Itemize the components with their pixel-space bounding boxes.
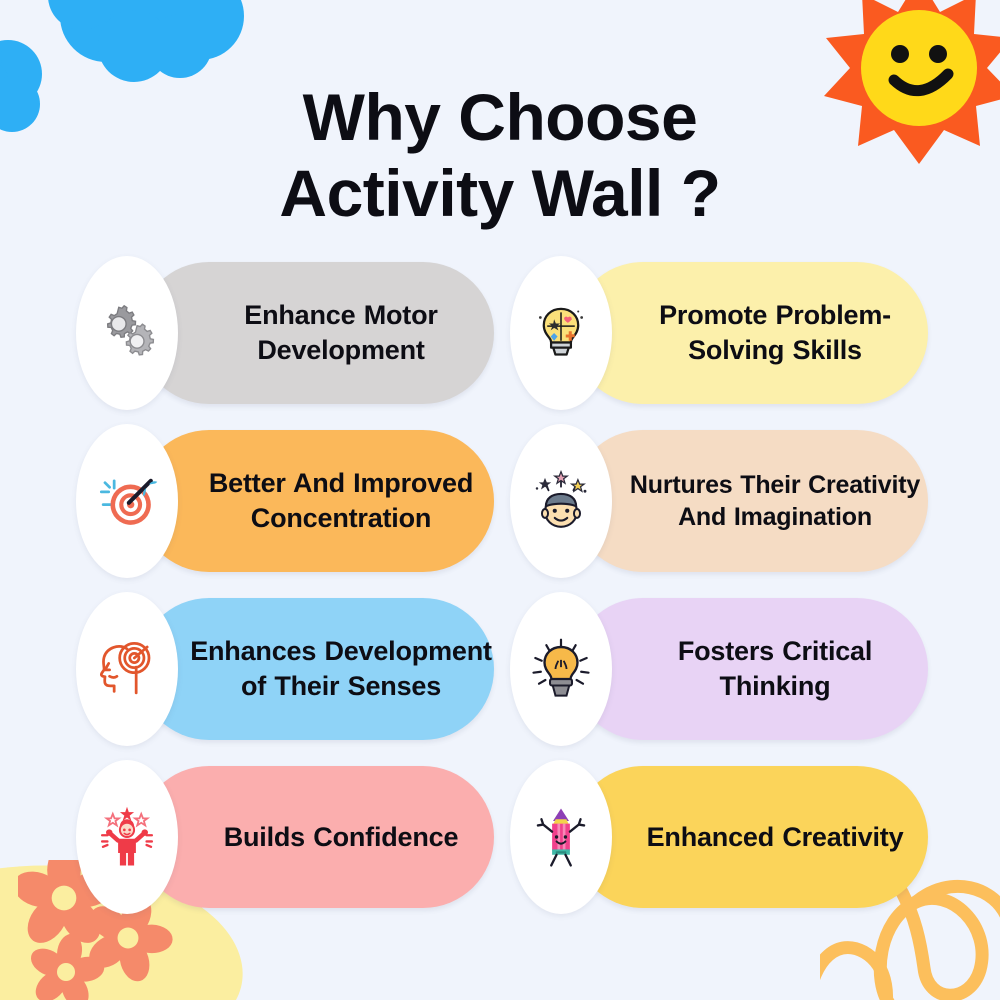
benefit-card-better-and-improved-concentration[interactable]: Better And Improved Concentration [76, 424, 494, 578]
infographic-canvas: Why Choose Activity Wall ? Enhance [0, 0, 1000, 1000]
benefit-card-promote-problem-solving-skills[interactable]: Promote Problem-Solving Skills [510, 256, 928, 410]
benefit-card-enhance-motor-development[interactable]: Enhance Motor Development [76, 256, 494, 410]
benefit-card-fosters-critical-thinking[interactable]: Fosters Critical Thinking [510, 592, 928, 746]
target-arrow-icon [76, 424, 178, 578]
page-title-line-1: Why Choose [0, 80, 1000, 156]
puzzle-lightbulb-icon [510, 256, 612, 410]
benefit-label: Enhanced Creativity [622, 820, 928, 855]
gears-icon [76, 256, 178, 410]
benefit-card-builds-confidence[interactable]: Builds Confidence [76, 760, 494, 914]
confident-child-icon [76, 760, 178, 914]
benefit-card-nurtures-creativity-imagination[interactable]: Nurtures Their Creativity And Imaginatio… [510, 424, 928, 578]
benefit-label: Enhance Motor Development [188, 298, 494, 367]
benefit-label: Nurtures Their Creativity And Imaginatio… [622, 469, 928, 533]
benefit-label: Fosters Critical Thinking [622, 634, 928, 703]
head-target-icon [76, 592, 178, 746]
glowing-lightbulb-icon [510, 592, 612, 746]
benefit-label: Promote Problem-Solving Skills [622, 298, 928, 367]
benefits-grid: Enhance Motor Development [76, 256, 928, 914]
benefit-label: Better And Improved Concentration [188, 466, 494, 535]
benefit-card-enhances-development-senses[interactable]: Enhances Development of Their Senses [76, 592, 494, 746]
page-title: Why Choose Activity Wall ? [0, 80, 1000, 232]
benefit-card-enhanced-creativity[interactable]: Enhanced Creativity [510, 760, 928, 914]
benefit-label: Builds Confidence [188, 820, 494, 855]
benefit-label: Enhances Development of Their Senses [188, 634, 494, 703]
pencil-character-icon [510, 760, 612, 914]
child-face-stars-icon [510, 424, 612, 578]
page-title-line-2: Activity Wall ? [0, 156, 1000, 232]
